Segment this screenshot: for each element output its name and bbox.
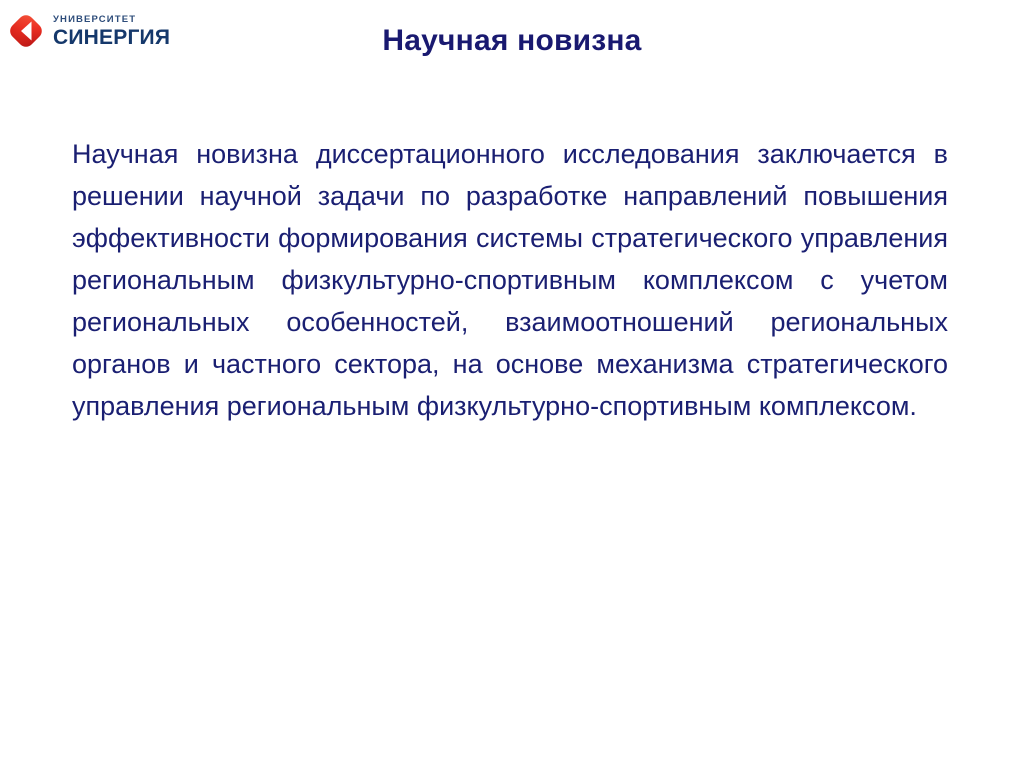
page-title: Научная новизна (0, 24, 1024, 58)
presentation-slide: УНИВЕРСИТЕТ СИНЕРГИЯ Научная новизна Нау… (0, 0, 1024, 768)
slide-body-paragraph: Научная новизна диссертационного исследо… (72, 133, 948, 427)
